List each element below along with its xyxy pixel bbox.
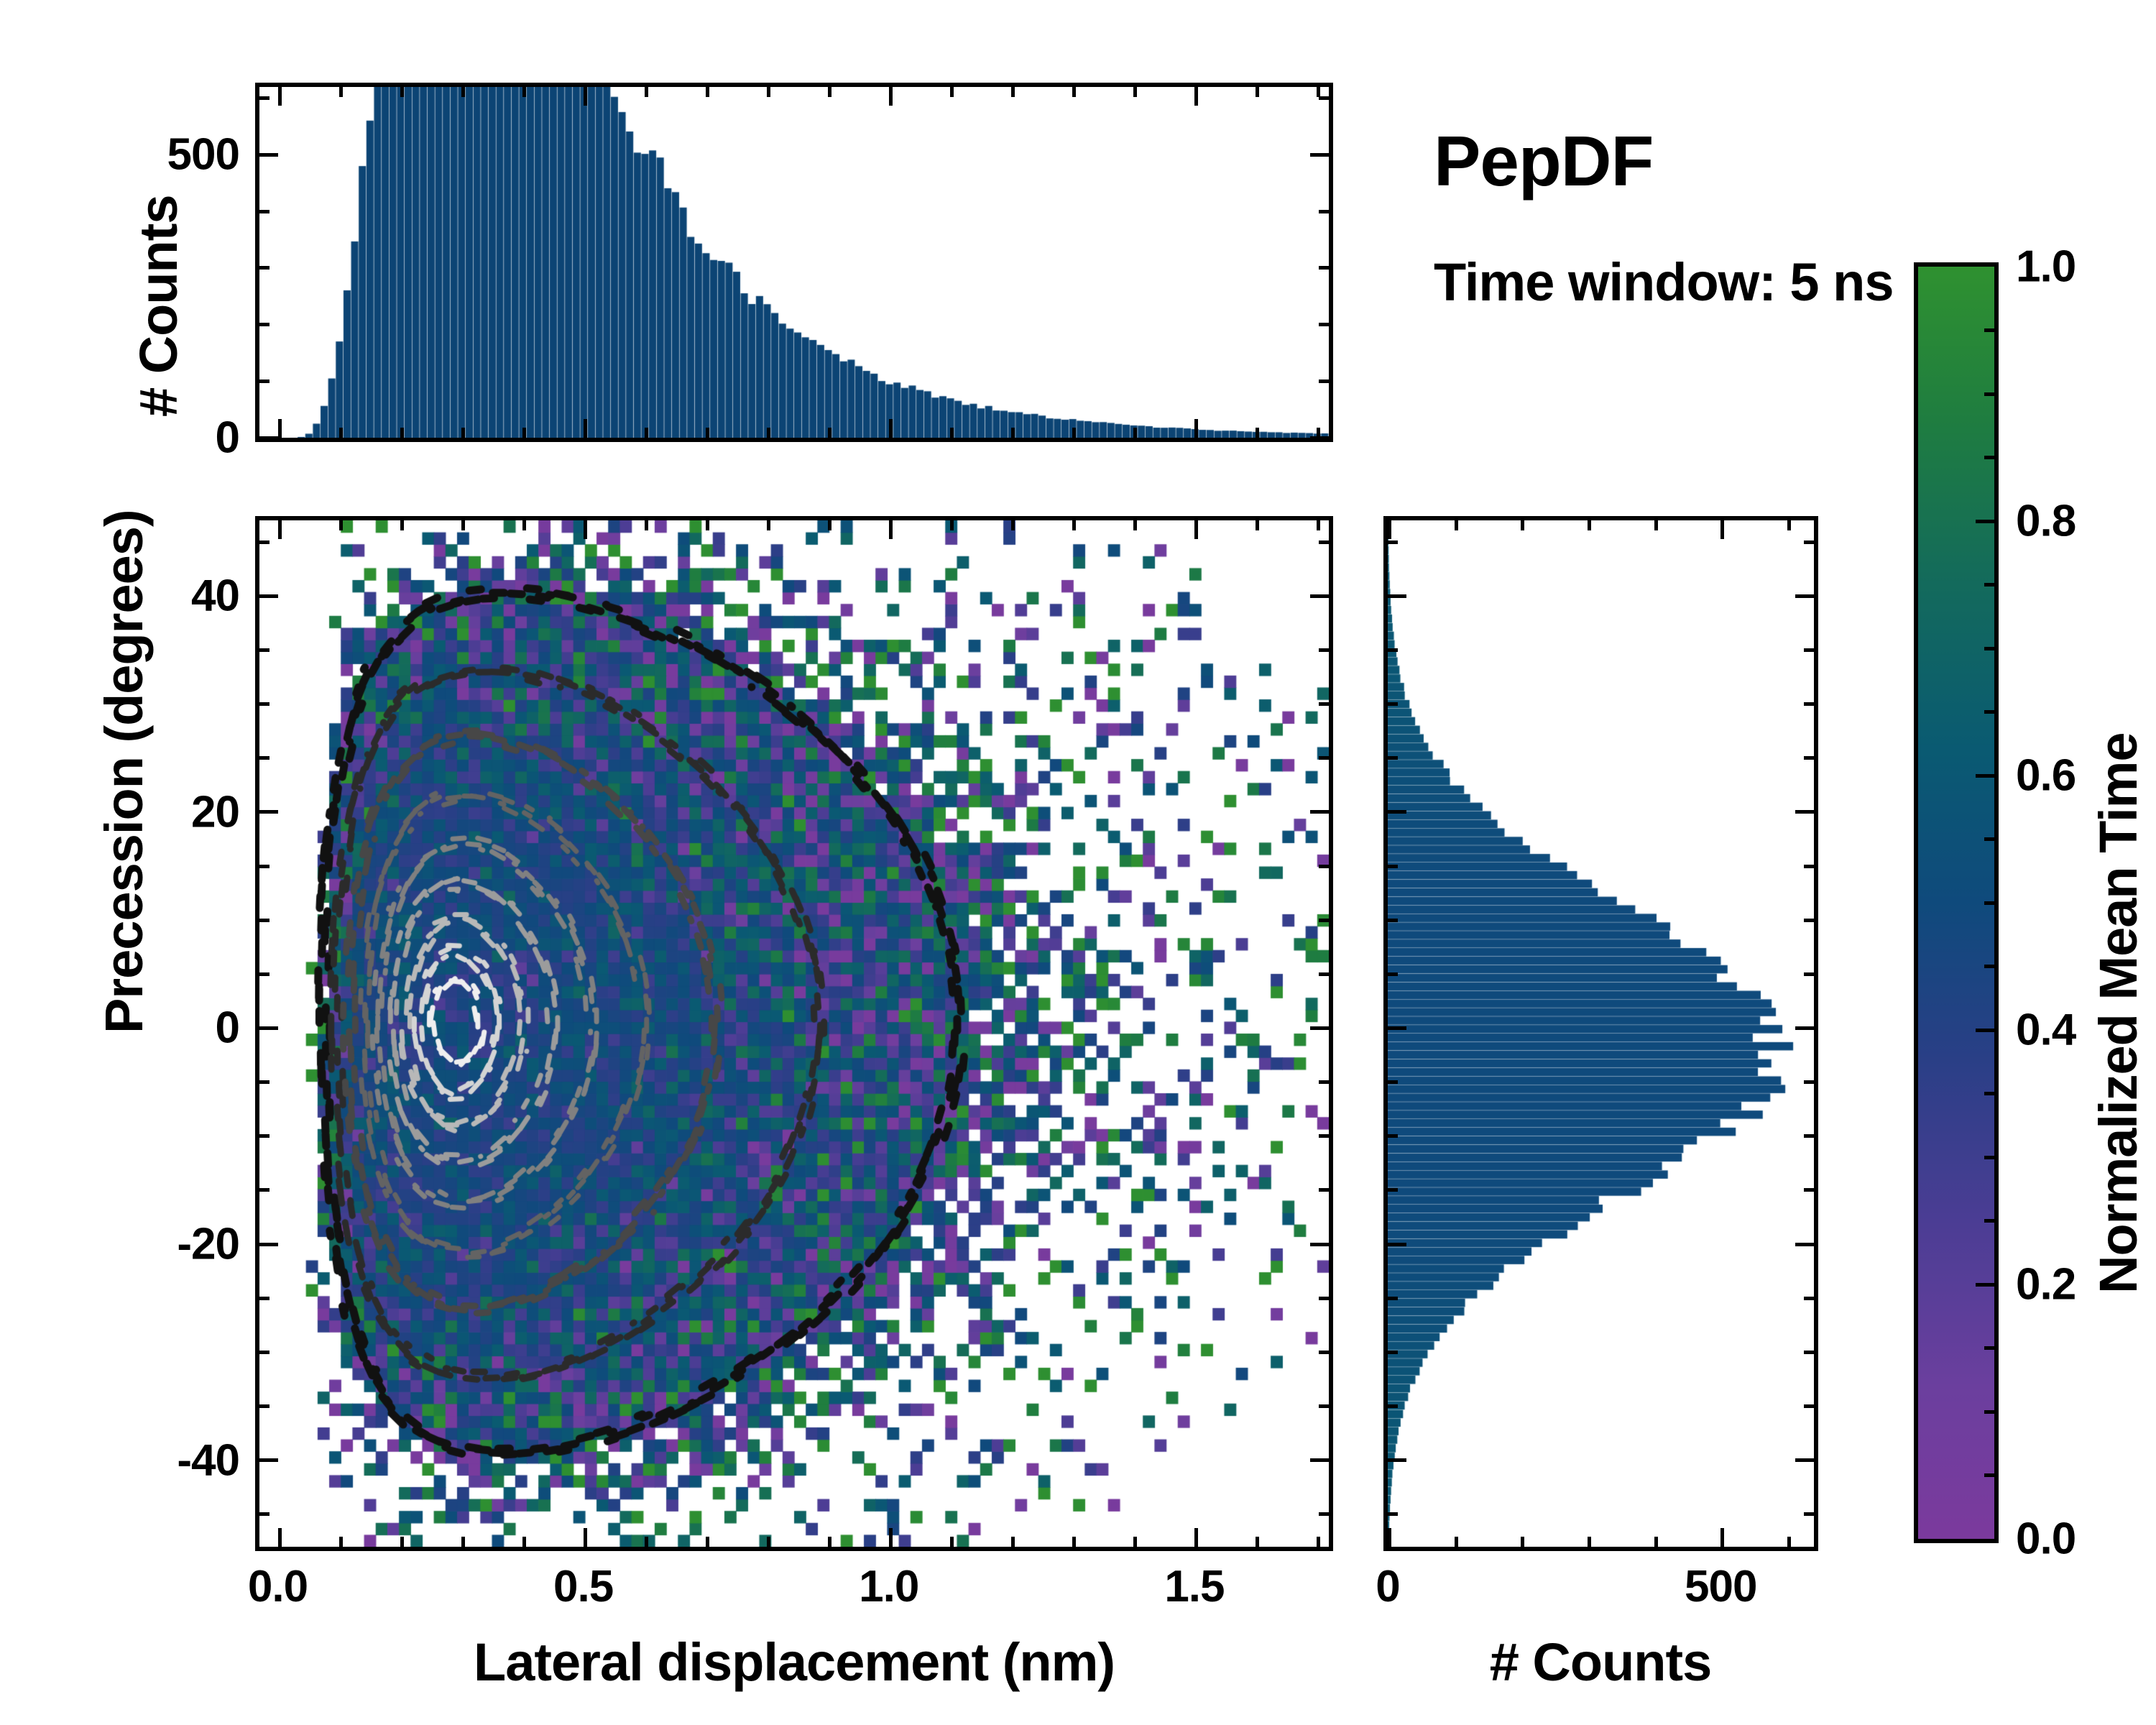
axis-tick xyxy=(1521,520,1524,530)
axis-tick xyxy=(1319,702,1329,706)
joint-y-tick-label: 0 xyxy=(216,1003,239,1054)
axis-tick xyxy=(1984,710,1994,714)
axis-tick xyxy=(1804,756,1814,760)
axis-tick xyxy=(645,520,648,530)
axis-tick xyxy=(706,520,709,530)
axis-tick xyxy=(259,266,269,270)
axis-tick xyxy=(1804,540,1814,544)
axis-tick xyxy=(1072,1537,1076,1547)
axis-tick xyxy=(584,1528,587,1547)
axis-tick xyxy=(1588,520,1591,530)
axis-tick xyxy=(1319,1188,1329,1192)
axis-tick xyxy=(1976,1283,1994,1287)
axis-tick xyxy=(1976,1029,1994,1032)
axis-tick xyxy=(1319,648,1329,652)
axis-tick xyxy=(1256,428,1259,438)
joint-x-tick-label: 0.0 xyxy=(248,1561,308,1612)
axis-tick xyxy=(1319,379,1329,383)
axis-tick xyxy=(259,1404,269,1408)
axis-tick xyxy=(1388,1080,1398,1084)
axis-tick xyxy=(1133,87,1137,97)
axis-tick xyxy=(1319,1080,1329,1084)
axis-tick xyxy=(339,1537,343,1547)
axis-tick xyxy=(584,520,587,539)
right-histogram-x-axis-label: # Counts xyxy=(1490,1632,1712,1693)
axis-tick xyxy=(1804,1080,1814,1084)
axis-tick xyxy=(1310,1458,1329,1462)
axis-tick xyxy=(1984,1092,1994,1095)
axis-tick xyxy=(259,323,269,326)
axis-tick xyxy=(1310,1026,1329,1030)
axis-tick xyxy=(259,379,269,383)
axis-tick xyxy=(1795,1243,1814,1246)
joint-y-axis-label: Precession (degrees) xyxy=(93,510,155,1034)
axis-tick xyxy=(1310,810,1329,814)
colorbar-tick-label: 0.4 xyxy=(2016,1005,2076,1056)
axis-tick xyxy=(1319,323,1329,326)
axis-tick xyxy=(1072,428,1076,438)
axis-tick xyxy=(1654,1537,1658,1547)
axis-tick xyxy=(1804,1188,1814,1192)
axis-tick xyxy=(1310,1243,1329,1246)
axis-tick xyxy=(259,1134,269,1138)
axis-tick xyxy=(1194,1528,1198,1547)
axis-tick xyxy=(259,865,269,868)
top-histogram-y-tick-label: 0 xyxy=(216,413,239,464)
axis-tick xyxy=(1720,1528,1724,1547)
axis-tick xyxy=(889,87,893,106)
right-histogram-x-tick-label: 0 xyxy=(1376,1561,1399,1612)
joint-y-tick-label: 20 xyxy=(191,786,239,837)
axis-tick xyxy=(1319,1351,1329,1354)
axis-tick xyxy=(1984,392,1994,396)
axis-tick xyxy=(889,1528,893,1547)
joint-x-tick-label: 0.5 xyxy=(553,1561,613,1612)
axis-tick xyxy=(1317,520,1320,530)
joint-y-tick-label: -40 xyxy=(177,1435,239,1486)
axis-tick xyxy=(1804,1351,1814,1354)
top-histogram-y-axis-label: # Counts xyxy=(128,195,189,417)
axis-tick xyxy=(400,428,404,438)
axis-tick xyxy=(1787,1537,1791,1547)
axis-tick xyxy=(767,1537,770,1547)
axis-tick xyxy=(1310,153,1329,157)
axis-tick xyxy=(767,87,770,97)
axis-tick xyxy=(1388,520,1391,539)
axis-tick xyxy=(1317,1537,1320,1547)
axis-tick xyxy=(889,520,893,539)
axis-tick xyxy=(1388,1188,1398,1192)
axis-tick xyxy=(1388,1528,1391,1547)
joint-y-tick-label: -20 xyxy=(177,1219,239,1270)
axis-tick xyxy=(1984,1473,1994,1477)
axis-tick xyxy=(1388,1404,1398,1408)
axis-tick xyxy=(1804,1134,1814,1138)
axis-tick xyxy=(950,87,954,97)
axis-tick xyxy=(1388,1458,1406,1462)
axis-tick xyxy=(259,756,269,760)
axis-tick xyxy=(950,428,954,438)
axis-tick xyxy=(1319,96,1329,100)
axis-tick xyxy=(1319,1404,1329,1408)
axis-tick xyxy=(1319,1297,1329,1300)
axis-tick xyxy=(1984,456,1994,459)
axis-tick xyxy=(1194,419,1198,438)
axis-tick xyxy=(1984,1219,1994,1223)
axis-tick xyxy=(1256,87,1259,97)
axis-tick xyxy=(1319,919,1329,922)
right-histogram-x-tick-label: 500 xyxy=(1685,1561,1756,1612)
colorbar-label: Normalized Mean Time xyxy=(2088,732,2149,1294)
axis-tick xyxy=(1319,210,1329,213)
axis-tick xyxy=(1984,583,1994,586)
axis-tick xyxy=(461,87,465,97)
axis-tick xyxy=(828,428,831,438)
axis-tick xyxy=(1984,1156,1994,1159)
axis-tick xyxy=(278,1528,282,1547)
axis-tick xyxy=(400,87,404,97)
axis-tick xyxy=(1133,1537,1137,1547)
axis-tick xyxy=(645,87,648,97)
axis-tick xyxy=(1011,428,1015,438)
axis-tick xyxy=(1072,87,1076,97)
top-histogram-y-tick-label: 500 xyxy=(167,129,239,180)
axis-tick xyxy=(278,419,282,438)
axis-tick xyxy=(259,1458,278,1462)
axis-tick xyxy=(645,1537,648,1547)
axis-tick xyxy=(461,428,465,438)
axis-tick xyxy=(1795,1026,1814,1030)
axis-tick xyxy=(1319,865,1329,868)
axis-tick xyxy=(1388,702,1398,706)
axis-tick xyxy=(259,1188,269,1192)
axis-tick xyxy=(400,520,404,530)
axis-tick xyxy=(259,96,269,100)
axis-tick xyxy=(1720,520,1724,539)
axis-tick xyxy=(1521,1537,1524,1547)
axis-tick xyxy=(1310,436,1329,440)
page-title: PepDF xyxy=(1434,121,1653,202)
colorbar-gradient xyxy=(1918,267,1994,1539)
axis-tick xyxy=(1310,594,1329,598)
axis-tick xyxy=(1256,1537,1259,1547)
axis-tick xyxy=(259,436,278,440)
axis-tick xyxy=(1388,865,1398,868)
axis-tick xyxy=(584,419,587,438)
top-histogram-canvas xyxy=(259,87,1329,438)
axis-tick xyxy=(259,1351,269,1354)
axis-tick xyxy=(1194,87,1198,106)
joint-heatmap-canvas xyxy=(259,520,1329,1547)
axis-tick xyxy=(828,87,831,97)
axis-tick xyxy=(1654,520,1658,530)
axis-tick xyxy=(339,520,343,530)
axis-tick xyxy=(1804,1512,1814,1516)
axis-tick xyxy=(889,419,893,438)
axis-tick xyxy=(339,87,343,97)
colorbar-tick-label: 0.6 xyxy=(2016,750,2076,801)
axis-tick xyxy=(645,428,648,438)
axis-tick xyxy=(1984,1410,1994,1414)
axis-tick xyxy=(1388,756,1398,760)
axis-tick xyxy=(1804,865,1814,868)
axis-tick xyxy=(278,87,282,106)
right-histogram-canvas xyxy=(1388,520,1814,1547)
axis-tick xyxy=(1319,266,1329,270)
axis-tick xyxy=(400,1537,404,1547)
axis-tick xyxy=(1804,972,1814,976)
axis-tick xyxy=(1984,837,1994,841)
axis-tick xyxy=(1133,428,1137,438)
axis-tick xyxy=(584,87,587,106)
axis-tick xyxy=(706,428,709,438)
axis-tick xyxy=(1011,520,1015,530)
axis-tick xyxy=(522,1537,526,1547)
axis-tick xyxy=(1984,1346,1994,1350)
axis-tick xyxy=(461,1537,465,1547)
axis-tick xyxy=(767,520,770,530)
axis-tick xyxy=(1804,919,1814,922)
top-histogram-panel xyxy=(255,83,1333,442)
axis-tick xyxy=(1795,594,1814,598)
axis-tick xyxy=(461,520,465,530)
axis-tick xyxy=(259,1512,269,1516)
axis-tick xyxy=(1388,1243,1406,1246)
axis-tick xyxy=(1455,520,1458,530)
axis-tick xyxy=(1194,520,1198,539)
axis-tick xyxy=(1804,1297,1814,1300)
axis-tick xyxy=(259,1297,269,1300)
axis-tick xyxy=(767,428,770,438)
axis-tick xyxy=(1388,1351,1398,1354)
axis-tick xyxy=(259,919,269,922)
axis-tick xyxy=(1256,520,1259,530)
axis-tick xyxy=(339,428,343,438)
axis-tick xyxy=(1984,901,1994,905)
axis-tick xyxy=(1984,965,1994,968)
joint-x-axis-label: Lateral displacement (nm) xyxy=(474,1632,1115,1693)
joint-x-tick-label: 1.0 xyxy=(859,1561,918,1612)
axis-tick xyxy=(706,87,709,97)
joint-y-tick-label: 40 xyxy=(191,571,239,622)
axis-tick xyxy=(1319,1512,1329,1516)
axis-tick xyxy=(1388,648,1398,652)
axis-tick xyxy=(1388,919,1398,922)
axis-tick xyxy=(259,972,269,976)
axis-tick xyxy=(522,520,526,530)
axis-tick xyxy=(1319,756,1329,760)
axis-tick xyxy=(950,520,954,530)
axis-tick xyxy=(1388,1512,1398,1516)
axis-tick xyxy=(950,1537,954,1547)
axis-tick xyxy=(259,1026,278,1030)
axis-tick xyxy=(1588,1537,1591,1547)
axis-tick xyxy=(1787,520,1791,530)
axis-tick xyxy=(522,428,526,438)
axis-tick xyxy=(1804,648,1814,652)
colorbar-tick-label: 0.8 xyxy=(2016,496,2076,547)
axis-tick xyxy=(1795,1458,1814,1462)
axis-tick xyxy=(1984,328,1994,332)
axis-tick xyxy=(1388,1134,1398,1138)
axis-tick xyxy=(1388,810,1406,814)
axis-tick xyxy=(1317,87,1320,97)
axis-tick xyxy=(1388,594,1406,598)
axis-tick xyxy=(259,648,269,652)
axis-tick xyxy=(1319,540,1329,544)
right-histogram-panel xyxy=(1383,516,1818,1551)
joint-heatmap-panel xyxy=(255,516,1333,1551)
axis-tick xyxy=(1795,810,1814,814)
axis-tick xyxy=(259,594,278,598)
axis-tick xyxy=(1011,1537,1015,1547)
axis-tick xyxy=(259,702,269,706)
axis-tick xyxy=(1976,774,1994,778)
axis-tick xyxy=(259,210,269,213)
axis-tick xyxy=(259,1080,269,1084)
axis-tick xyxy=(1388,540,1398,544)
colorbar-tick-label: 0.0 xyxy=(2016,1514,2076,1565)
axis-tick xyxy=(706,1537,709,1547)
axis-tick xyxy=(1804,702,1814,706)
axis-tick xyxy=(259,810,278,814)
axis-tick xyxy=(259,1243,278,1246)
axis-tick xyxy=(1319,1134,1329,1138)
axis-tick xyxy=(1455,1537,1458,1547)
axis-tick xyxy=(1072,520,1076,530)
axis-tick xyxy=(1011,87,1015,97)
colorbar-tick-label: 1.0 xyxy=(2016,241,2076,293)
axis-tick xyxy=(1804,1404,1814,1408)
joint-x-tick-label: 1.5 xyxy=(1164,1561,1224,1612)
plot-subtitle: Time window: 5 ns xyxy=(1434,252,1894,313)
axis-tick xyxy=(259,153,278,157)
axis-tick xyxy=(828,1537,831,1547)
axis-tick xyxy=(1133,520,1137,530)
axis-tick xyxy=(1976,520,1994,523)
axis-tick xyxy=(259,540,269,544)
colorbar-tick-label: 0.2 xyxy=(2016,1259,2076,1310)
axis-tick xyxy=(522,87,526,97)
axis-tick xyxy=(828,520,831,530)
axis-tick xyxy=(1388,972,1398,976)
axis-tick xyxy=(1319,972,1329,976)
axis-tick xyxy=(1388,1026,1406,1030)
axis-tick xyxy=(1984,647,1994,650)
axis-tick xyxy=(278,520,282,539)
axis-tick xyxy=(1388,1297,1398,1300)
